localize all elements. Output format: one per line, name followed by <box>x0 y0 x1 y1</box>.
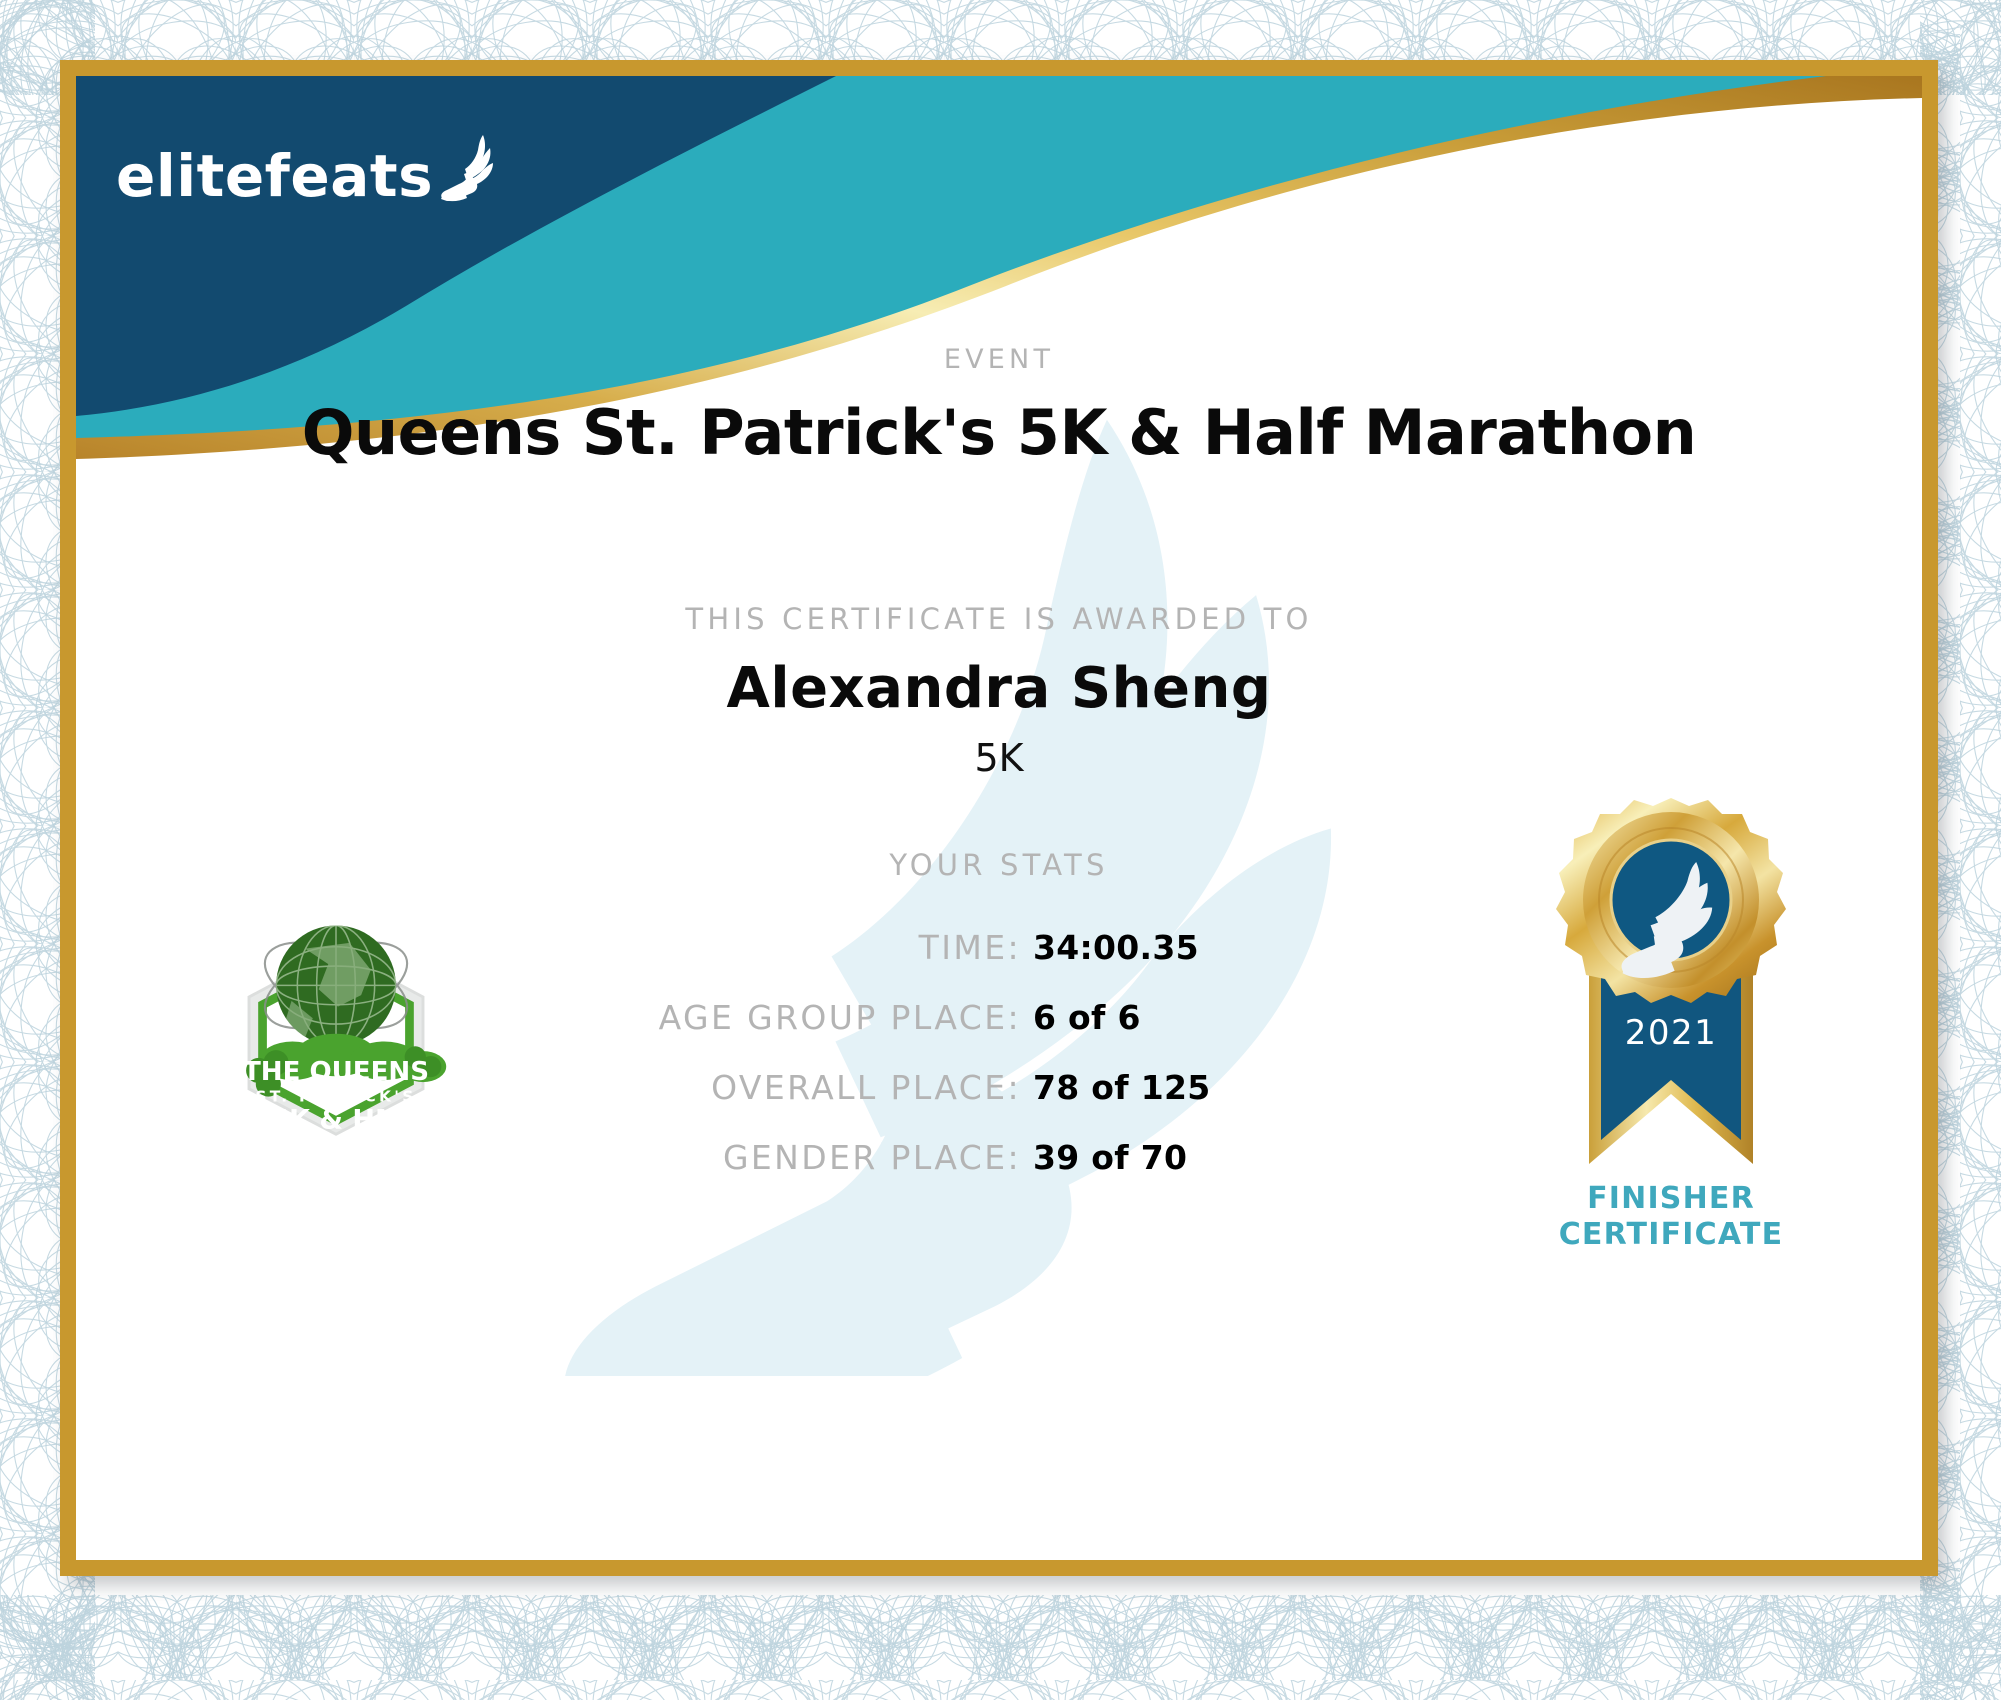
event-title: Queens St. Patrick's 5K & Half Marathon <box>76 396 1922 469</box>
finisher-medal: 2021 <box>1511 776 1831 1206</box>
event-label: EVENT <box>76 344 1922 375</box>
race-distance: 5K <box>76 736 1922 780</box>
recipient-name: Alexandra Sheng <box>76 656 1922 721</box>
certificate-page: elitefeats <box>0 0 2001 1700</box>
stat-value: 78 of 125 <box>1021 1068 1211 1107</box>
race-event-logo: THE QUEENS ST. PATRICK'S 5K & HM <box>191 881 481 1171</box>
medal-disc <box>1556 798 1786 1003</box>
stat-value: 39 of 70 <box>1021 1138 1187 1177</box>
medal-caption-line2: CERTIFICATE <box>1491 1217 1851 1253</box>
race-logo-line1: THE QUEENS <box>243 1057 429 1087</box>
stat-value: 6 of 6 <box>1021 998 1141 1037</box>
stat-value: 34:00.35 <box>1021 928 1199 967</box>
certificate-gold-frame: elitefeats <box>60 60 1938 1576</box>
medal-ribbon <box>1589 966 1753 1164</box>
elitefeats-logo: elitefeats <box>116 131 505 205</box>
medal-caption: FINISHER CERTIFICATE <box>1491 1181 1851 1253</box>
medal-year: 2021 <box>1625 1013 1718 1053</box>
certificate-paper: elitefeats <box>76 76 1922 1560</box>
medal-caption-line1: FINISHER <box>1491 1181 1851 1217</box>
awarded-to-label: THIS CERTIFICATE IS AWARDED TO <box>76 602 1922 636</box>
race-logo-line2: ST. PATRICK'S <box>255 1087 416 1105</box>
brand-name: elitefeats <box>116 147 433 205</box>
race-logo-line3: 5K & HM <box>270 1104 402 1135</box>
winged-foot-icon <box>435 131 505 203</box>
